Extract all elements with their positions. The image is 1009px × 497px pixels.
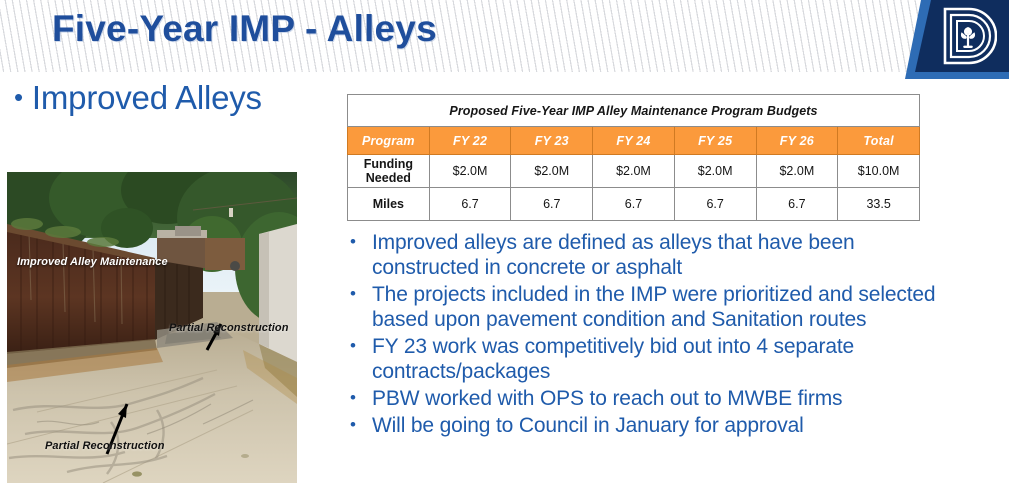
photo-caption-partial-reconstruction-upper: Partial Reconstruction xyxy=(169,322,289,334)
cell-miles-fy23: 6.7 xyxy=(511,188,593,221)
column-header-fy24: FY 24 xyxy=(593,127,675,155)
section-heading-label: Improved Alleys xyxy=(32,79,262,116)
budget-table: Proposed Five-Year IMP Alley Maintenance… xyxy=(347,94,920,221)
column-header-fy23: FY 23 xyxy=(511,127,593,155)
column-header-fy22: FY 22 xyxy=(429,127,511,155)
cell-miles-total: 33.5 xyxy=(838,188,920,221)
alley-photo: Improved Alley Maintenance Partial Recon… xyxy=(7,172,297,483)
bullet-item-1: Improved alleys are defined as alleys th… xyxy=(347,230,937,280)
column-header-fy25: FY 25 xyxy=(674,127,756,155)
section-bullet-icon: • xyxy=(14,82,23,113)
photo-caption-improved-alley-maintenance: Improved Alley Maintenance xyxy=(17,256,168,268)
cell-funding-fy23: $2.0M xyxy=(511,155,593,188)
dallas-d-icon xyxy=(939,6,997,66)
photo-caption-partial-reconstruction-lower: Partial Reconstruction xyxy=(45,440,165,452)
table-title-row: Proposed Five-Year IMP Alley Maintenance… xyxy=(348,95,920,127)
bullet-item-4: PBW worked with OPS to reach out to MWBE… xyxy=(347,386,937,411)
cell-funding-fy22: $2.0M xyxy=(429,155,511,188)
table-row: Miles 6.7 6.7 6.7 6.7 6.7 33.5 xyxy=(348,188,920,221)
table-header-row: Program FY 22 FY 23 FY 24 FY 25 FY 26 To… xyxy=(348,127,920,155)
bullet-item-3: FY 23 work was competitively bid out int… xyxy=(347,334,937,384)
bullet-item-2: The projects included in the IMP were pr… xyxy=(347,282,937,332)
cell-funding-fy26: $2.0M xyxy=(756,155,838,188)
column-header-fy26: FY 26 xyxy=(756,127,838,155)
bullet-item-5: Will be going to Council in January for … xyxy=(347,413,937,438)
cell-funding-fy24: $2.0M xyxy=(593,155,675,188)
city-of-dallas-logo xyxy=(905,0,1009,79)
page-title: Five-Year IMP - Alleys xyxy=(52,8,437,50)
plant-motif-icon xyxy=(961,27,975,48)
column-header-program: Program xyxy=(348,127,430,155)
row-label-funding-needed: Funding Needed xyxy=(348,155,430,188)
cell-miles-fy25: 6.7 xyxy=(674,188,756,221)
table-title: Proposed Five-Year IMP Alley Maintenance… xyxy=(348,95,920,127)
cell-funding-fy25: $2.0M xyxy=(674,155,756,188)
section-heading: •Improved Alleys xyxy=(14,79,262,117)
column-header-total: Total xyxy=(838,127,920,155)
cell-miles-fy24: 6.7 xyxy=(593,188,675,221)
cell-funding-total: $10.0M xyxy=(838,155,920,188)
bullet-list: Improved alleys are defined as alleys th… xyxy=(347,230,937,440)
row-label-miles: Miles xyxy=(348,188,430,221)
cell-miles-fy22: 6.7 xyxy=(429,188,511,221)
table-row: Funding Needed $2.0M $2.0M $2.0M $2.0M $… xyxy=(348,155,920,188)
cell-miles-fy26: 6.7 xyxy=(756,188,838,221)
